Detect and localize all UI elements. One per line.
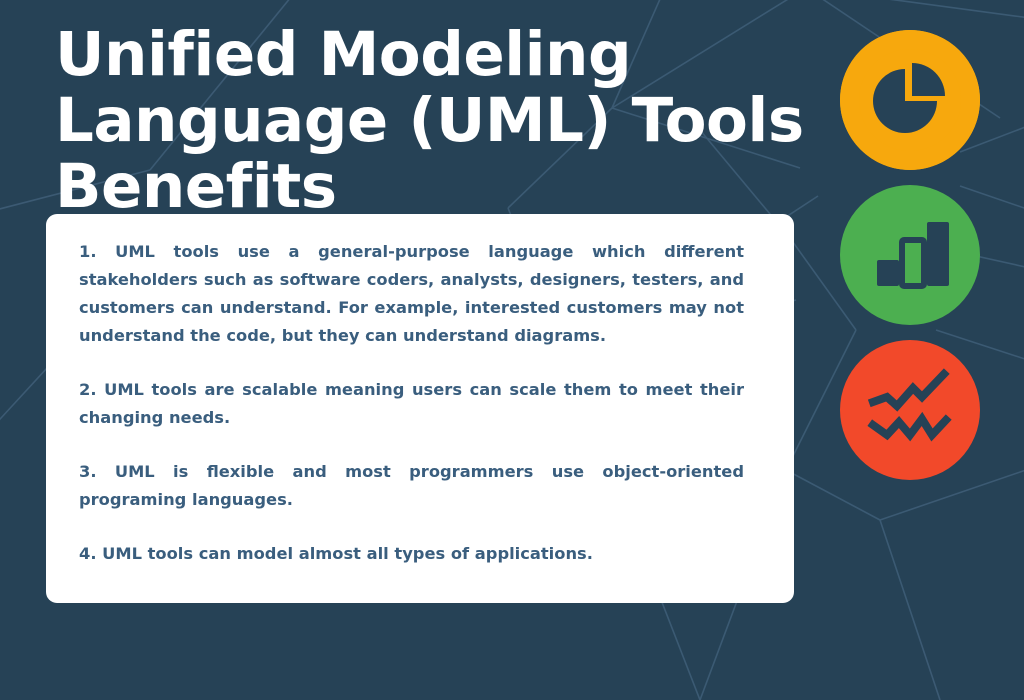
trend-chart-icon: [840, 340, 980, 480]
bar-chart-icon-circle: [840, 185, 980, 325]
benefit-item-2: 2. UML tools are scalable meaning users …: [79, 376, 744, 432]
benefit-item-1: 1. UML tools use a general-purpose langu…: [79, 238, 744, 350]
benefit-item-3: 3. UML is flexible and most programmers …: [79, 458, 744, 514]
benefit-item-4: 4. UML tools can model almost all types …: [79, 540, 744, 568]
bar-chart-icon: [840, 185, 980, 325]
page-title: Unified Modeling Language (UML) Tools Be…: [55, 22, 895, 220]
pie-chart-icon: [840, 30, 980, 170]
trend-chart-icon-circle: [840, 340, 980, 480]
slide-canvas: Unified Modeling Language (UML) Tools Be…: [0, 0, 1024, 700]
pie-chart-icon-circle: [840, 30, 980, 170]
benefits-card: 1. UML tools use a general-purpose langu…: [46, 214, 794, 603]
